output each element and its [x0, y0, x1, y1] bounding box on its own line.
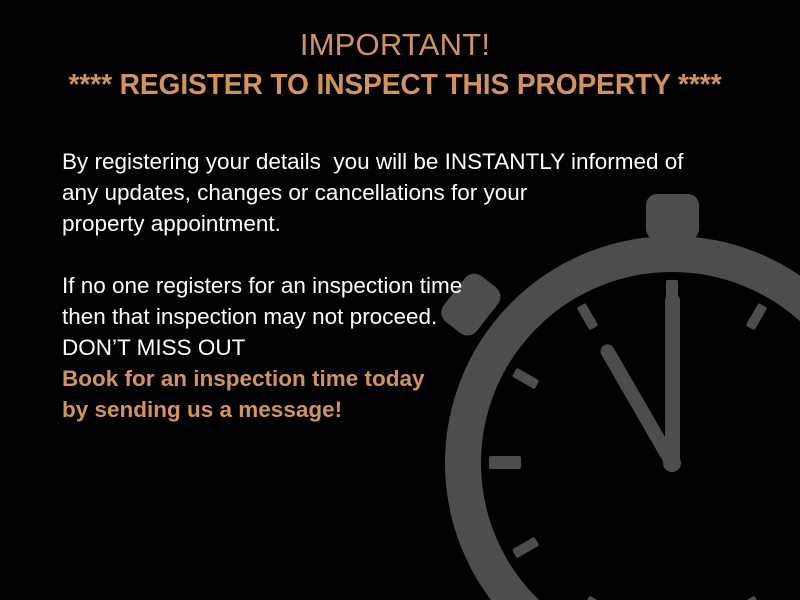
cta-send-message: by sending us a message! — [62, 394, 722, 425]
headline-block: IMPORTANT! **** REGISTER TO INSPECT THIS… — [0, 26, 790, 102]
body-copy-block: By registering your details you will be … — [62, 146, 722, 425]
headline-register-to-inspect: **** REGISTER TO INSPECT THIS PROPERTY *… — [12, 68, 778, 102]
paragraph-no-registrations: If no one registers for an inspection ti… — [62, 270, 722, 332]
paragraph-registering-details: By registering your details you will be … — [62, 146, 722, 239]
text-layer: IMPORTANT! **** REGISTER TO INSPECT THIS… — [0, 0, 800, 600]
headline-important: IMPORTANT! — [0, 26, 790, 64]
cta-book-inspection: Book for an inspection time today — [62, 363, 722, 394]
slide-canvas: IMPORTANT! **** REGISTER TO INSPECT THIS… — [0, 0, 800, 600]
cta-dont-miss-out: DON’T MISS OUT — [62, 332, 722, 363]
